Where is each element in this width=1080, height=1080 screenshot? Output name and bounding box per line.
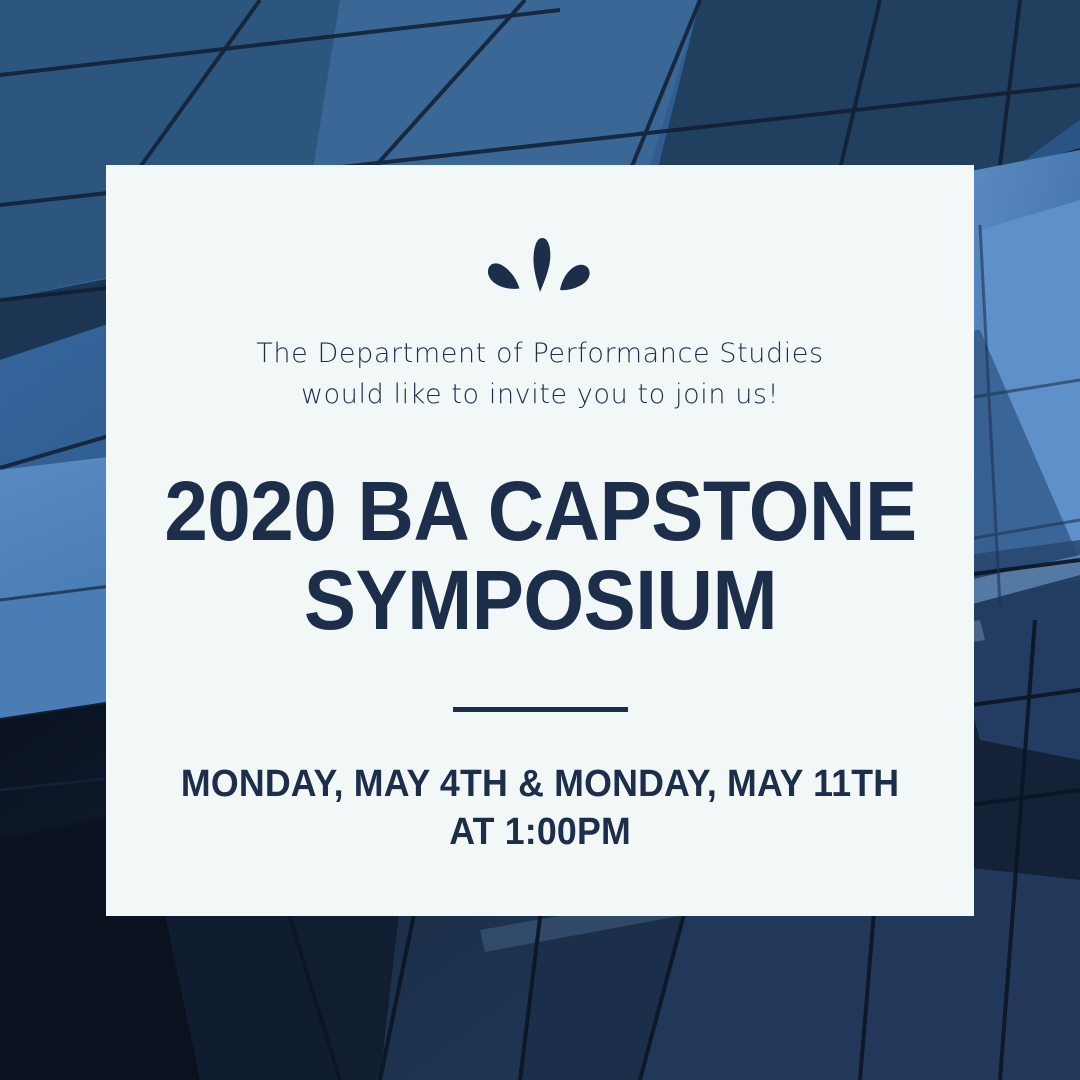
page-title: 2020 BA CAPSTONE SYMPOSIUM (164, 467, 916, 645)
invitation-subheading: The Department of Performance Studies wo… (256, 333, 823, 415)
divider-rule (453, 707, 628, 712)
event-date-time: MONDAY, MAY 4TH & MONDAY, MAY 11TH AT 1:… (181, 760, 899, 856)
subheading-line-1: The Department of Performance Studies (256, 333, 823, 374)
date-line-1: MONDAY, MAY 4TH & MONDAY, MAY 11TH (181, 760, 899, 808)
headline-line-2: SYMPOSIUM (164, 556, 916, 645)
three-petal-flourish-icon (486, 233, 594, 293)
date-line-2: AT 1:00PM (181, 808, 899, 856)
invitation-card: The Department of Performance Studies wo… (106, 165, 974, 916)
subheading-line-2: would like to invite you to join us! (256, 374, 823, 415)
headline-line-1: 2020 BA CAPSTONE (164, 467, 916, 556)
event-poster: The Department of Performance Studies wo… (0, 0, 1080, 1080)
